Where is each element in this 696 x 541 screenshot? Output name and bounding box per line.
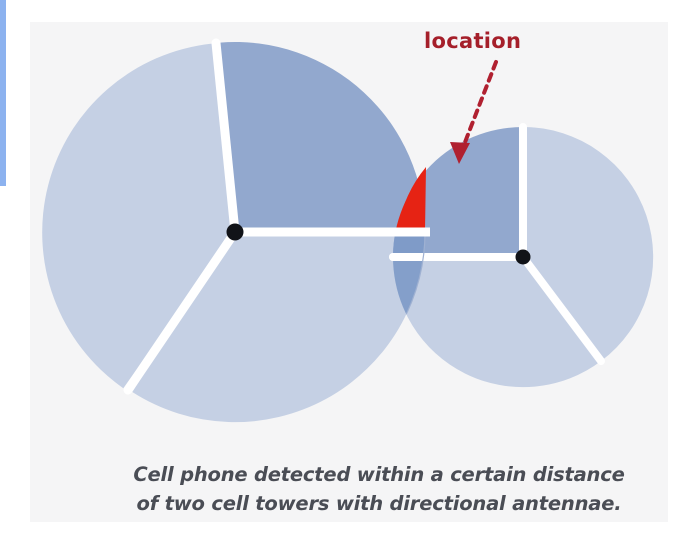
figure-stage: Cell phone detected within a certain dis…	[0, 0, 696, 541]
cell-tower-coverage-diagram	[30, 22, 668, 522]
figure-caption: Cell phone detected within a certain dis…	[60, 460, 696, 518]
left-accent-bar	[0, 0, 6, 186]
caption-line-2: of two cell towers with directional ante…	[60, 489, 696, 518]
location-label: location	[424, 29, 521, 53]
left-tower-dot	[227, 224, 244, 241]
figure-panel: Cell phone detected within a certain dis…	[30, 22, 668, 522]
right-tower-dot	[516, 250, 531, 265]
caption-line-1: Cell phone detected within a certain dis…	[60, 460, 696, 489]
